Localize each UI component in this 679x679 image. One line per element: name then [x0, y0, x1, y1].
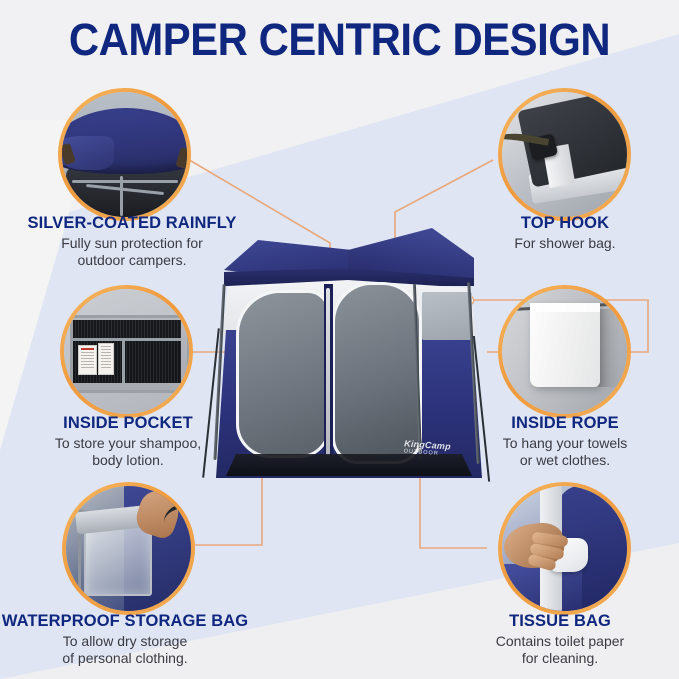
photo-top-hook — [502, 92, 627, 217]
callout-text-waterproof-storage-bag: WATERPROOF STORAGE BAG To allow dry stor… — [0, 612, 270, 667]
desc-line-2: for cleaning. — [522, 650, 598, 666]
tent-side-window — [422, 292, 472, 340]
photo-inside-rope — [502, 289, 627, 414]
desc-line-2: outdoor campers. — [78, 252, 187, 268]
desc-line-1: To allow dry storage — [63, 633, 188, 649]
desc-line-1: Contains toilet paper — [496, 633, 624, 649]
desc-line-1: For shower bag. — [514, 235, 615, 251]
product-image-shower-tent: KingCamp OUTDOOR — [208, 218, 488, 518]
callout-image-inside-rope[interactable] — [498, 285, 631, 418]
desc-line-1: To store your shampoo, — [55, 435, 201, 451]
desc-line-2: or wet clothes. — [520, 452, 610, 468]
callout-desc-waterproof-storage-bag: To allow dry storage of personal clothin… — [0, 633, 270, 667]
desc-line-2: body lotion. — [92, 452, 164, 468]
callout-desc-tissue-bag: Contains toilet paper for cleaning. — [420, 633, 679, 667]
tent-floor-shadow — [226, 454, 472, 476]
callout-image-top-hook[interactable] — [498, 88, 631, 221]
callout-image-tissue-bag[interactable] — [498, 482, 631, 615]
desc-line-2: of personal clothing. — [62, 650, 187, 666]
callout-image-inside-pocket[interactable] — [60, 285, 193, 418]
photo-inside-pocket — [64, 289, 189, 414]
photo-tissue-bag — [502, 486, 627, 611]
callout-image-waterproof-storage-bag[interactable] — [62, 482, 195, 615]
tent-door-left — [236, 290, 330, 458]
callout-text-tissue-bag: TISSUE BAG Contains toilet paper for cle… — [420, 612, 679, 667]
desc-line-1: Fully sun protection for — [61, 235, 203, 251]
desc-line-1: To hang your towels — [503, 435, 628, 451]
photo-rainfly — [62, 92, 187, 217]
infographic-canvas: CAMPER CENTRIC DESIGN — [0, 0, 679, 679]
callout-title-tissue-bag: TISSUE BAG — [420, 612, 679, 631]
callout-title-waterproof-storage-bag: WATERPROOF STORAGE BAG — [0, 612, 270, 631]
brand-logo: KingCamp OUTDOOR — [403, 438, 451, 457]
tent-door-right — [332, 282, 422, 464]
photo-waterproof-storage-bag — [66, 486, 191, 611]
callout-image-silver-coated-rainfly[interactable] — [58, 88, 191, 221]
